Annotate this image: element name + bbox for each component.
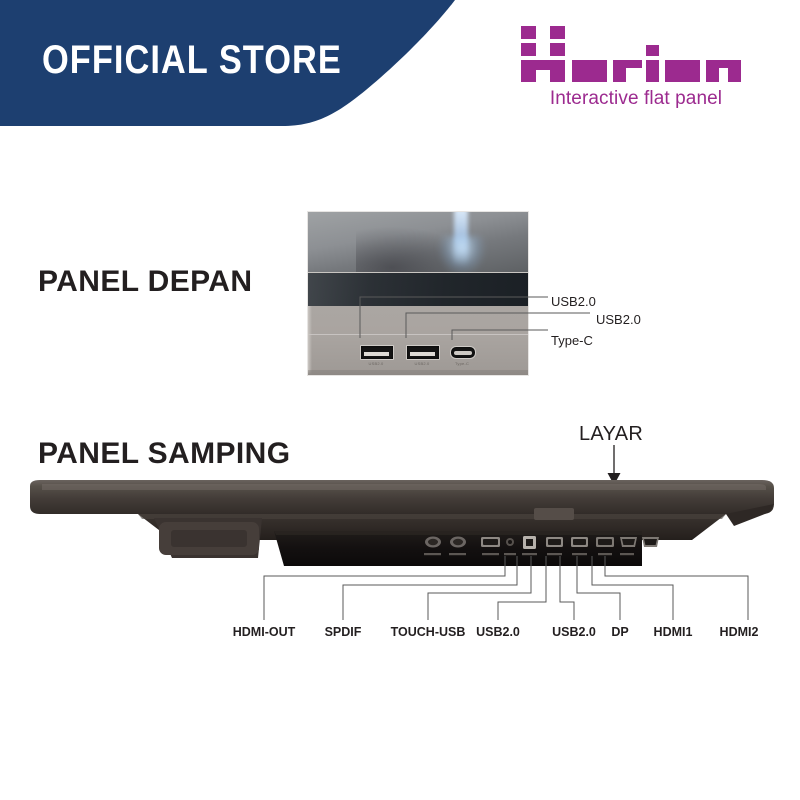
front-label-usb1: USB2.0 bbox=[551, 294, 596, 309]
front-label-typec: Type-C bbox=[551, 333, 593, 348]
header-banner: OFFICIAL STORE bbox=[0, 0, 800, 126]
section-title-front: PANEL DEPAN bbox=[38, 265, 252, 299]
brand-tagline: Interactive flat panel bbox=[520, 88, 752, 110]
brand-logo: Interactive flat panel bbox=[512, 24, 752, 120]
side-label-hdmi2: HDMI2 bbox=[694, 625, 784, 639]
screen-callout-label: LAYAR bbox=[579, 423, 643, 446]
front-panel-glass bbox=[308, 212, 528, 272]
front-panel-light-glow-icon bbox=[438, 236, 486, 276]
section-title-side: PANEL SAMPING bbox=[38, 437, 290, 471]
side-panel-leader-lines bbox=[230, 552, 770, 624]
front-label-usb2: USB2.0 bbox=[596, 312, 641, 327]
page-title: OFFICIAL STORE bbox=[42, 38, 342, 82]
horion-wordmark-icon bbox=[512, 24, 752, 86]
